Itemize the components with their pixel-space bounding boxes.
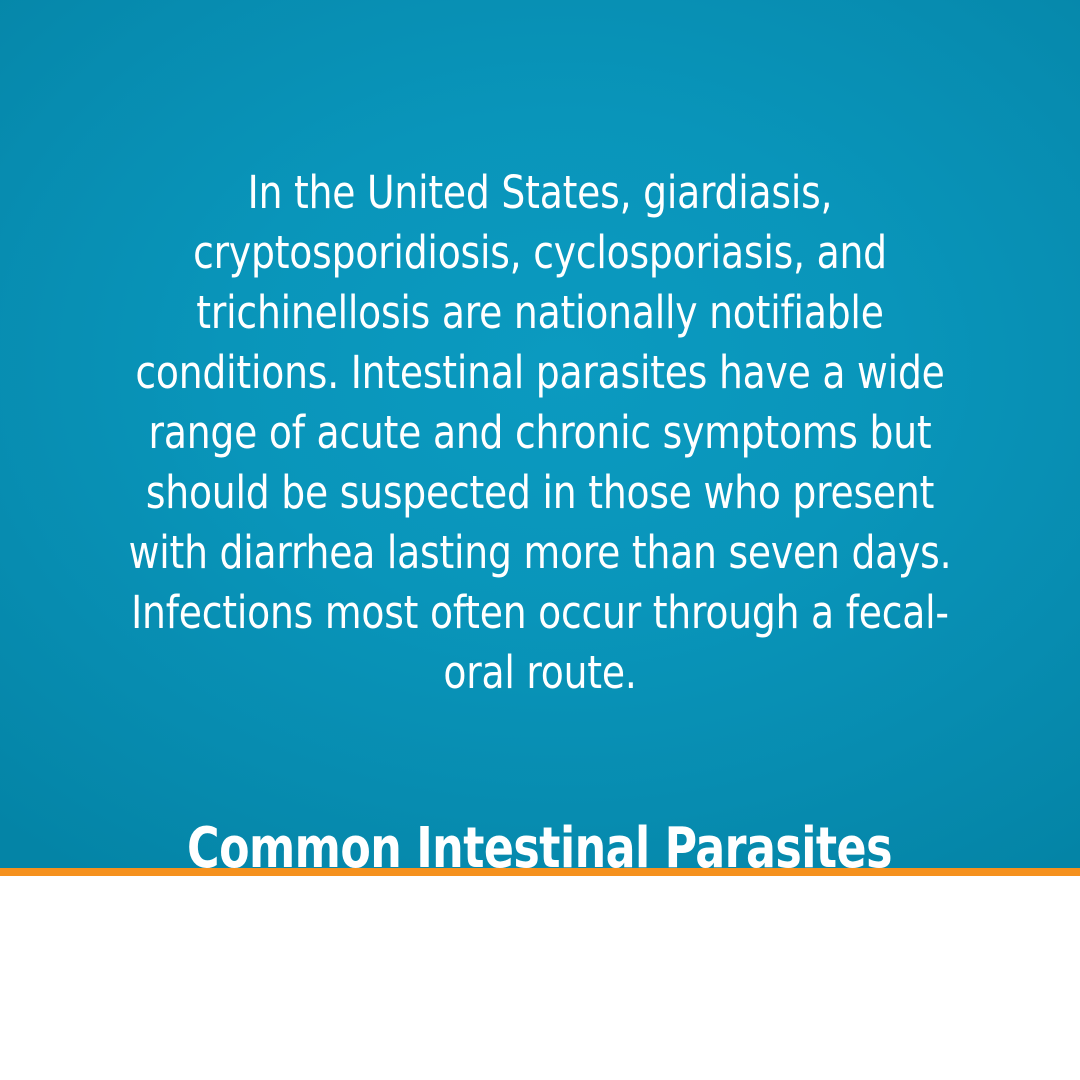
accent-band: [0, 868, 1080, 876]
hero-content: In the United States, giardiasis, crypto…: [0, 0, 1080, 868]
quote-text: In the United States, giardiasis, crypto…: [108, 163, 973, 703]
hero-panel: In the United States, giardiasis, crypto…: [0, 0, 1080, 868]
social-card: In the United States, giardiasis, crypto…: [0, 0, 1080, 1080]
footer-bar: American Family Physician® AN EDITORIALL…: [0, 876, 1080, 1080]
